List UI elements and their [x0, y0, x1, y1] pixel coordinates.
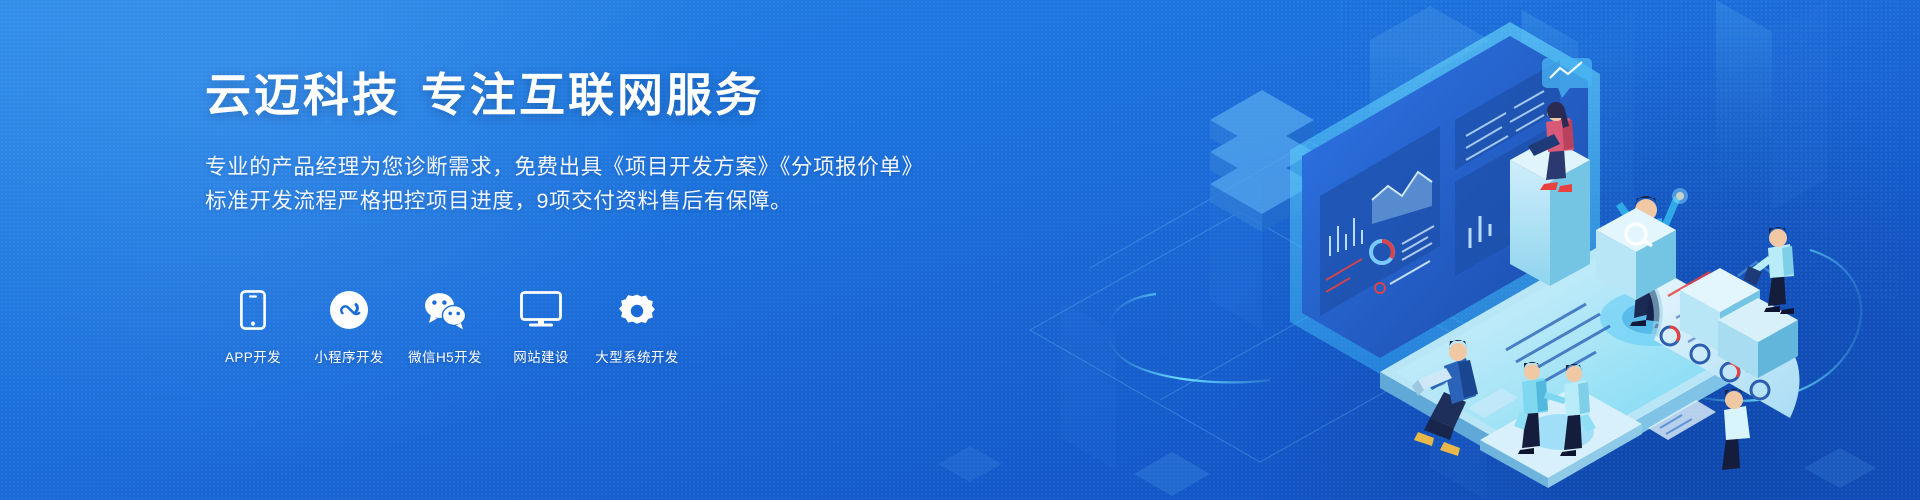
mobile-phone-icon — [240, 288, 266, 332]
service-label: APP开发 — [225, 346, 281, 366]
service-item-mini-program[interactable]: 小程序开发 — [301, 288, 397, 366]
promo-banner: 云迈科技专注互联网服务 专业的产品经理为您诊断需求，免费出具《项目开发方案》《分… — [0, 0, 1920, 500]
banner-copy: 云迈科技专注互联网服务 专业的产品经理为您诊断需求，免费出具《项目开发方案》《分… — [205, 68, 965, 218]
service-item-website[interactable]: 网站建设 — [493, 288, 589, 366]
headline-tagline: 专注互联网服务 — [421, 69, 764, 121]
monitor-icon — [520, 288, 562, 332]
mini-program-icon — [329, 288, 369, 332]
service-list: APP开发 小程序开发 — [205, 288, 685, 366]
service-item-app[interactable]: APP开发 — [205, 288, 301, 366]
service-item-system[interactable]: 大型系统开发 — [589, 288, 685, 366]
subtitle-line-2: 标准开发流程严格把控项目进度，9项交付资料售后有保障。 — [205, 184, 965, 218]
isometric-tech-illustration — [910, 0, 1920, 500]
gear-icon — [617, 288, 657, 332]
service-label: 大型系统开发 — [595, 346, 678, 366]
service-item-wechat[interactable]: 微信H5开发 — [397, 288, 493, 366]
subtitle-line-1: 专业的产品经理为您诊断需求，免费出具《项目开发方案》《分项报价单》 — [205, 150, 965, 184]
headline-brand: 云迈科技 — [205, 69, 401, 121]
page-title: 云迈科技专注互联网服务 — [205, 68, 965, 122]
wechat-icon — [422, 288, 468, 332]
banner-subtitle: 专业的产品经理为您诊断需求，免费出具《项目开发方案》《分项报价单》 标准开发流程… — [205, 150, 965, 218]
service-label: 网站建设 — [513, 346, 569, 366]
service-label: 小程序开发 — [314, 346, 384, 366]
service-label: 微信H5开发 — [408, 346, 482, 366]
